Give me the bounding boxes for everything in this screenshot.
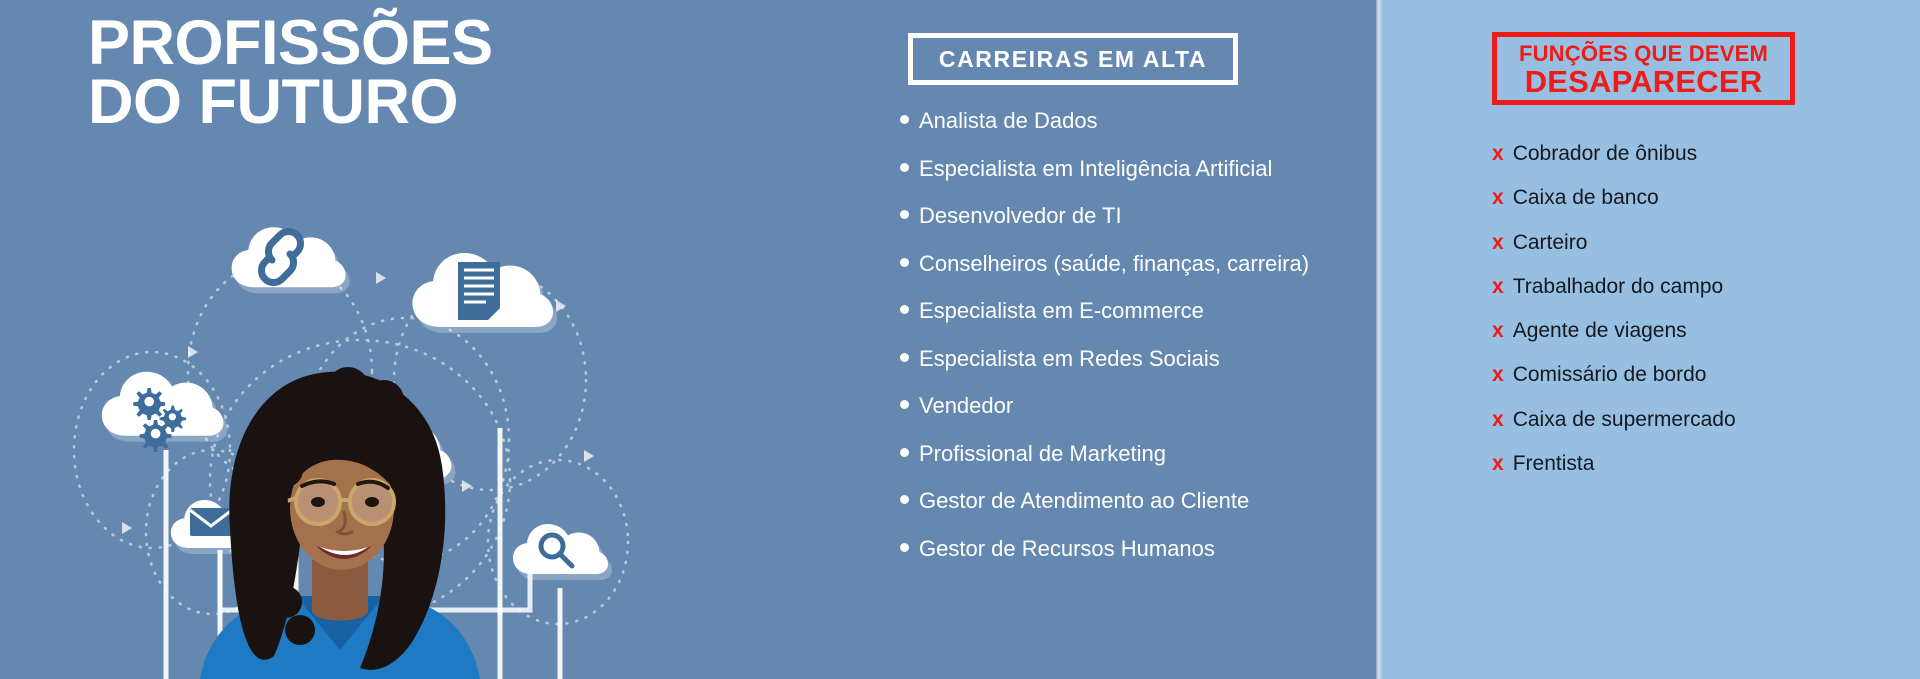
disappearing-header-box: FUNÇÕES QUE DEVEM DESAPARECER — [1492, 32, 1795, 105]
list-item: Conselheiros (saúde, finanças, carreira) — [900, 251, 1309, 299]
x-mark-icon: x — [1492, 275, 1504, 299]
list-item: Profissional de Marketing — [900, 441, 1309, 489]
woman-photo — [200, 367, 480, 679]
dot-bullet-icon — [900, 495, 909, 504]
list-item: x Frentista — [1492, 452, 1736, 496]
list-item-label: Trabalhador do campo — [1513, 275, 1724, 299]
list-item: x Comissário de bordo — [1492, 363, 1736, 407]
list-item: Especialista em Redes Sociais — [900, 346, 1309, 394]
list-item: Vendedor — [900, 393, 1309, 441]
x-mark-icon: x — [1492, 452, 1504, 476]
disappearing-roles-column: FUNÇÕES QUE DEVEM DESAPARECER x Cobrador… — [1382, 0, 1920, 679]
list-item-label: Caixa de banco — [1513, 186, 1659, 210]
x-mark-icon: x — [1492, 231, 1504, 255]
cloud-document-icon — [412, 253, 557, 333]
cloud-link-icon — [232, 227, 350, 293]
careers-header-box: CARREIRAS EM ALTA — [908, 33, 1238, 85]
list-item-label: Gestor de Recursos Humanos — [919, 536, 1215, 562]
dot-bullet-icon — [900, 210, 909, 219]
list-item-label: Frentista — [1513, 452, 1595, 476]
list-item-label: Vendedor — [919, 393, 1013, 419]
x-mark-icon: x — [1492, 186, 1504, 210]
list-item-label: Analista de Dados — [919, 108, 1098, 134]
list-item: x Caixa de banco — [1492, 186, 1736, 230]
x-mark-icon: x — [1492, 319, 1504, 343]
list-item-label: Cobrador de ônibus — [1513, 142, 1697, 166]
x-mark-icon: x — [1492, 142, 1504, 166]
disappearing-header-line1: FUNÇÕES QUE DEVEM — [1519, 43, 1768, 65]
list-item: x Cobrador de ônibus — [1492, 142, 1736, 186]
list-item-label: Comissário de bordo — [1513, 363, 1707, 387]
dot-bullet-icon — [900, 305, 909, 314]
dot-bullet-icon — [900, 115, 909, 124]
list-item-label: Carteiro — [1513, 231, 1588, 255]
list-item: x Caixa de supermercado — [1492, 408, 1736, 452]
list-item: x Carteiro — [1492, 231, 1736, 275]
list-item: Especialista em E-commerce — [900, 298, 1309, 346]
list-item-label: Agente de viagens — [1513, 319, 1687, 343]
list-item: Gestor de Recursos Humanos — [900, 536, 1309, 584]
list-item-label: Desenvolvedor de TI — [919, 203, 1122, 229]
careers-on-the-rise-column: CARREIRAS EM ALTA Analista de Dados Espe… — [900, 0, 1370, 679]
list-item-label: Especialista em Inteligência Artificial — [919, 156, 1272, 182]
dot-bullet-icon — [900, 543, 909, 552]
dot-bullet-icon — [900, 400, 909, 409]
dot-bullet-icon — [900, 163, 909, 172]
cloud-gears-icon — [102, 372, 228, 452]
dot-bullet-icon — [900, 448, 909, 457]
list-item: x Agente de viagens — [1492, 319, 1736, 363]
list-item: x Trabalhador do campo — [1492, 275, 1736, 319]
list-item-label: Especialista em Redes Sociais — [919, 346, 1220, 372]
infographic-root: PROFISSÕES DO FUTURO — [0, 0, 1920, 679]
list-item: Especialista em Inteligência Artificial — [900, 156, 1309, 204]
illustration — [60, 150, 660, 679]
dot-bullet-icon — [900, 258, 909, 267]
x-mark-icon: x — [1492, 363, 1504, 387]
list-item: Analista de Dados — [900, 108, 1309, 156]
list-item-label: Caixa de supermercado — [1513, 408, 1736, 432]
list-item: Desenvolvedor de TI — [900, 203, 1309, 251]
x-mark-icon: x — [1492, 408, 1504, 432]
list-item-label: Gestor de Atendimento ao Cliente — [919, 488, 1249, 514]
disappearing-header-line2: DESAPARECER — [1525, 66, 1763, 97]
list-item-label: Conselheiros (saúde, finanças, carreira) — [919, 251, 1309, 277]
careers-header-label: CARREIRAS EM ALTA — [939, 46, 1207, 73]
dot-bullet-icon — [900, 353, 909, 362]
list-item-label: Profissional de Marketing — [919, 441, 1166, 467]
list-item: Gestor de Atendimento ao Cliente — [900, 488, 1309, 536]
careers-list: Analista de Dados Especialista em Inteli… — [900, 108, 1309, 583]
disappearing-list: x Cobrador de ônibus x Caixa de banco x … — [1492, 142, 1736, 496]
page-title: PROFISSÕES DO FUTURO — [88, 14, 493, 132]
list-item-label: Especialista em E-commerce — [919, 298, 1204, 324]
